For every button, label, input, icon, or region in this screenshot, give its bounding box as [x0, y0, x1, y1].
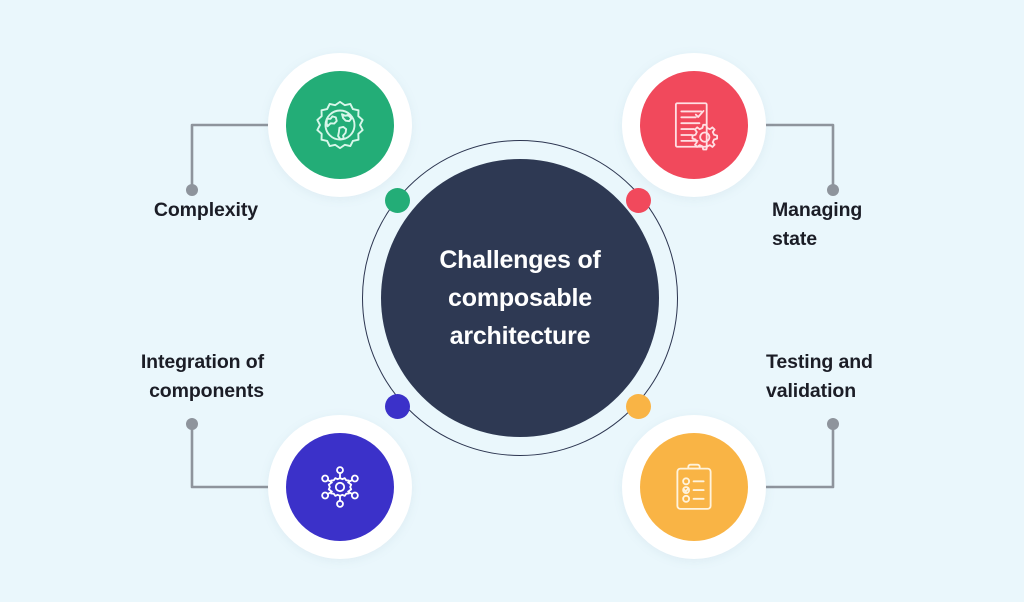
- node-managing-state-circle: [640, 71, 748, 179]
- node-complexity-circle: [286, 71, 394, 179]
- ring-dot-complexity: [385, 188, 410, 213]
- gear-globe-icon: [311, 96, 369, 154]
- label-complexity: Complexity: [154, 196, 258, 225]
- clipboard-checklist-icon: [666, 459, 722, 515]
- node-integration-of-components-circle: [286, 433, 394, 541]
- ring-dot-managing-state: [626, 188, 651, 213]
- center-hub-title: Challenges of composable architecture: [417, 241, 622, 356]
- ring-dot-testing-and-validation: [626, 394, 651, 419]
- label-managing-state: Managing state: [772, 196, 862, 254]
- center-hub: Challenges of composable architecture: [381, 159, 659, 437]
- node-managing-state[interactable]: [622, 53, 766, 197]
- gear-network-icon: [311, 458, 369, 516]
- node-testing-and-validation[interactable]: [622, 415, 766, 559]
- diagram-canvas: Challenges of composable architecture Co…: [0, 0, 1024, 602]
- label-testing-and-validation: Testing and validation: [766, 348, 873, 406]
- document-gear-icon: [665, 96, 723, 154]
- ring-dot-integration-of-components: [385, 394, 410, 419]
- node-complexity[interactable]: [268, 53, 412, 197]
- node-integration-of-components[interactable]: [268, 415, 412, 559]
- label-integration-of-components: Integration of components: [141, 348, 264, 406]
- node-testing-and-validation-circle: [640, 433, 748, 541]
